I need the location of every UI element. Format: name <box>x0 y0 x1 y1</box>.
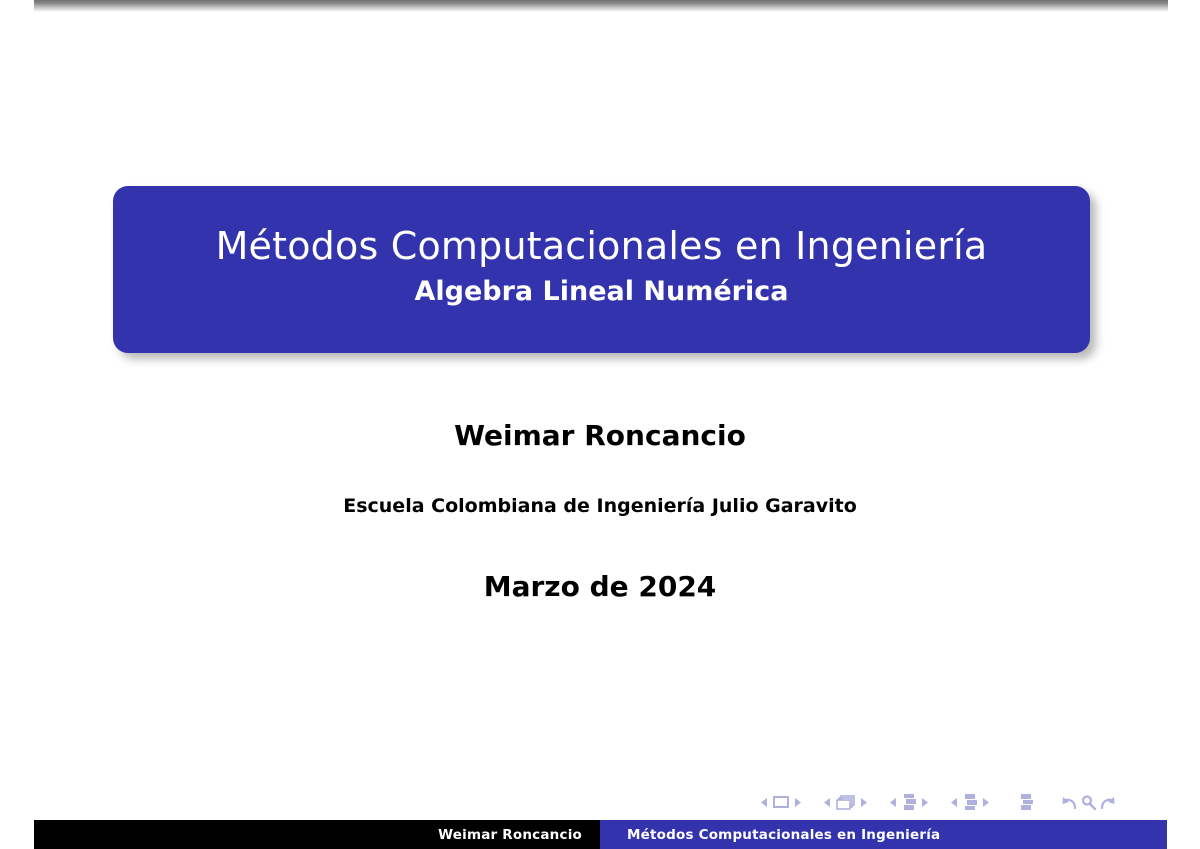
previous-slide-arrow-icon[interactable] <box>761 798 768 807</box>
previous-frame-arrow-icon[interactable] <box>824 798 831 807</box>
subsection-navigation-group[interactable] <box>885 794 933 810</box>
previous-section-arrow-icon[interactable] <box>951 798 958 807</box>
next-frame-arrow-icon[interactable] <box>860 798 867 807</box>
page-subtitle: Algebra Lineal Numérica <box>415 277 789 307</box>
presentation-date: Marzo de 2024 <box>0 570 1200 603</box>
next-section-arrow-icon[interactable] <box>982 798 989 807</box>
document-icon[interactable] <box>1019 794 1033 810</box>
title-block: Métodos Computacionales en Ingeniería Al… <box>113 186 1090 353</box>
search-icon[interactable] <box>1081 795 1096 810</box>
page-title: Métodos Computacionales en Ingeniería <box>216 226 988 267</box>
history-navigation-group[interactable] <box>1062 795 1115 810</box>
section-icon[interactable] <box>963 794 977 810</box>
footer-bar: Weimar Roncancio Métodos Computacionales… <box>34 820 1167 849</box>
author-name: Weimar Roncancio <box>0 419 1200 452</box>
next-slide-arrow-icon[interactable] <box>794 798 801 807</box>
frame-icon[interactable] <box>836 795 855 810</box>
slide-icon[interactable] <box>773 796 789 808</box>
footer-author-label: Weimar Roncancio <box>438 827 582 843</box>
forward-arrow-icon[interactable] <box>1099 795 1115 810</box>
document-navigation-group[interactable] <box>1019 794 1033 810</box>
next-subsection-arrow-icon[interactable] <box>921 798 928 807</box>
footer-title-section: Métodos Computacionales en Ingeniería <box>600 820 1167 849</box>
subsection-icon[interactable] <box>902 794 916 810</box>
navigation-symbols[interactable] <box>756 791 1128 813</box>
section-navigation-group[interactable] <box>946 794 994 810</box>
top-decoration-bar <box>34 0 1168 12</box>
previous-subsection-arrow-icon[interactable] <box>890 798 897 807</box>
frame-navigation-group[interactable] <box>819 795 872 810</box>
footer-author-section: Weimar Roncancio <box>34 820 600 849</box>
back-arrow-icon[interactable] <box>1062 795 1078 810</box>
slide-navigation-group[interactable] <box>756 796 806 808</box>
institute-name: Escuela Colombiana de Ingeniería Julio G… <box>0 495 1200 517</box>
footer-title-label: Métodos Computacionales en Ingeniería <box>627 827 940 843</box>
